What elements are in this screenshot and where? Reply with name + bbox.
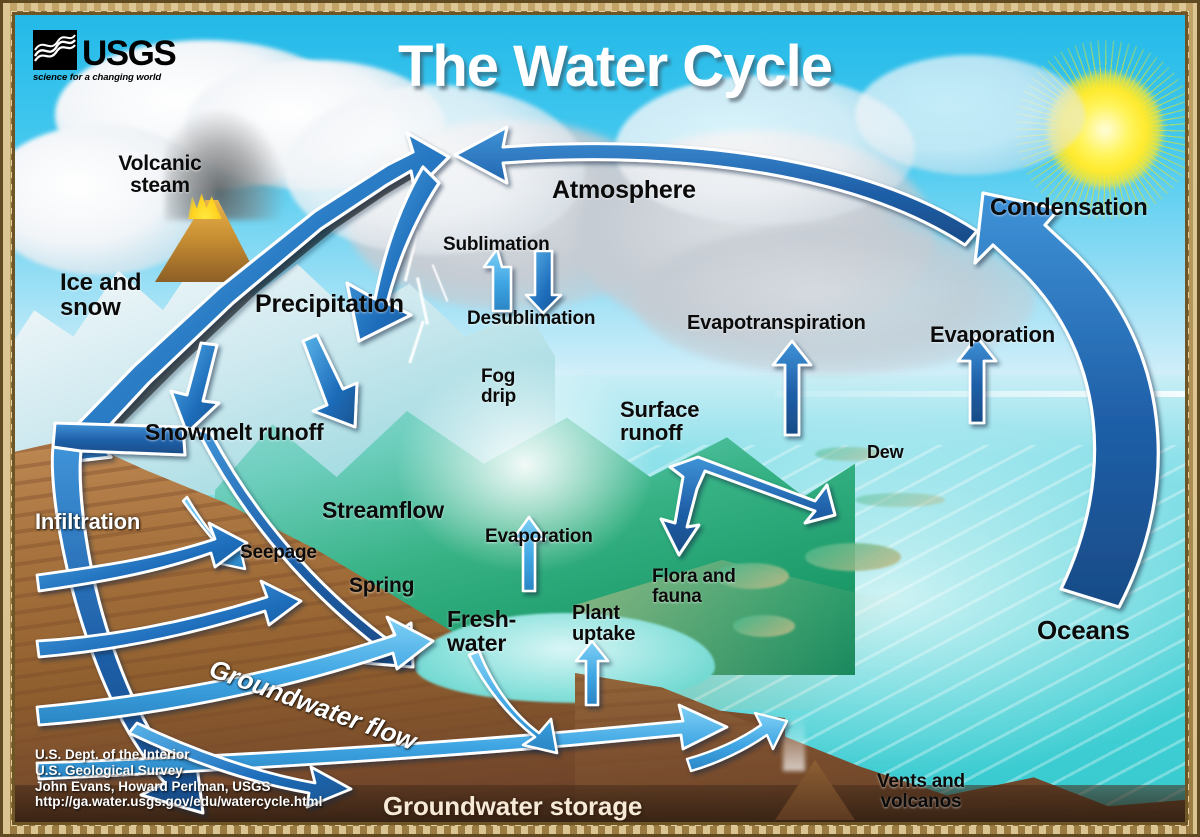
label-seepage: Seepage [240,543,317,563]
arrow-evaporation-ocean [958,337,996,423]
label-surface-runoff: Surface runoff [620,398,699,445]
label-fog-drip: Fog drip [481,367,516,407]
page-title: The Water Cycle [398,33,832,100]
label-evaporation-lake: Evaporation [485,527,593,547]
label-streamflow: Streamflow [322,498,444,522]
label-plant-uptake: Plant uptake [572,603,635,645]
label-volcanic-steam: Volcanic steam [118,153,201,198]
label-atmosphere: Atmosphere [552,177,696,204]
label-dew: Dew [867,443,903,462]
arrow-plant-uptake [576,641,608,705]
label-groundwater-storage: Groundwater storage [383,793,642,821]
usgs-wave-icon [33,30,77,70]
label-condensation: Condensation [990,195,1148,220]
label-evapotranspiration: Evapotranspiration [687,313,866,334]
usgs-tagline: science for a changing world [33,72,189,83]
arrow-evapotranspiration [773,341,811,435]
label-oceans: Oceans [1037,617,1130,645]
arrow-desublimation-down [526,251,561,313]
credits-text: U.S. Dept. of the Interior U.S. Geologic… [35,747,322,810]
arrow-surface-runoff [661,457,835,555]
diagram-scene: Volcanic steam Ice and snow Precipitatio… [15,15,1185,822]
label-ice-and-snow: Ice and snow [60,270,141,321]
label-desublimation: Desublimation [467,309,595,329]
arrow-sublimation-up [484,249,511,311]
arrow-condensation [975,193,1158,607]
arrow-atmosphere-transport [455,127,977,245]
label-spring: Spring [349,575,414,597]
label-flora-and-fauna: Flora and fauna [652,567,736,607]
arrow-snowmelt-right [303,335,357,427]
usgs-wordmark: USGS [82,38,175,70]
label-freshwater: Fresh- water [447,607,516,656]
label-vents-and-volcanos: Vents and volcanos [877,772,965,812]
usgs-logo: USGS science for a changing world [33,30,189,83]
label-sublimation: Sublimation [443,235,550,255]
label-snowmelt-runoff: Snowmelt runoff [145,420,323,444]
label-evaporation-ocean: Evaporation [930,323,1055,346]
water-cycle-poster: Volcanic steam Ice and snow Precipitatio… [0,0,1200,837]
label-precipitation: Precipitation [255,291,404,318]
label-infiltration: Infiltration [35,510,140,533]
